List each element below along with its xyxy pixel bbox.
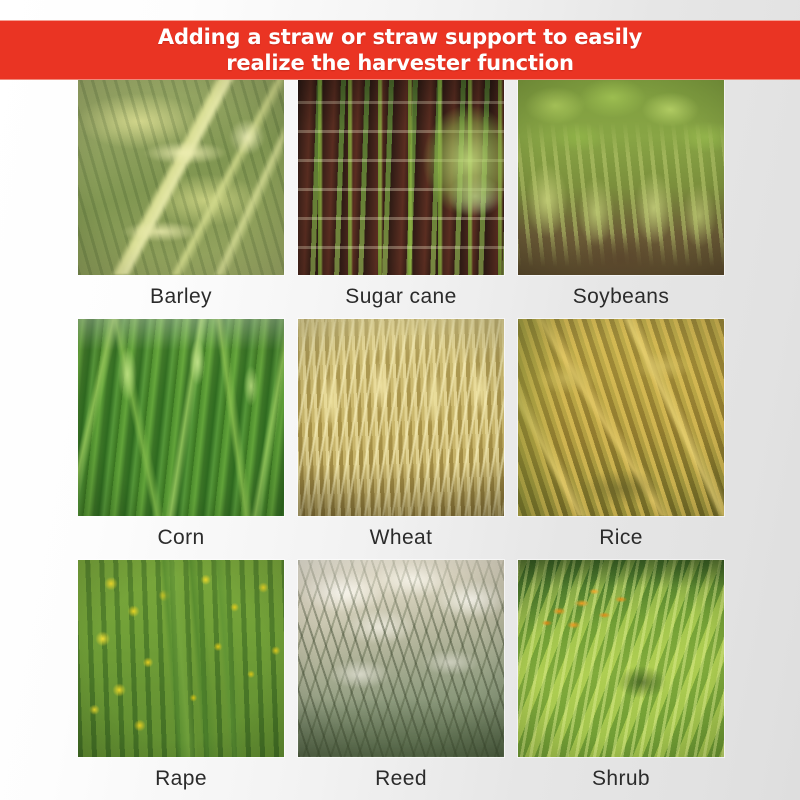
crop-cell-corn: Corn <box>78 319 284 560</box>
crop-label-soybeans: Soybeans <box>518 275 724 319</box>
grid-gutter <box>504 78 518 319</box>
crop-label-shrub: Shrub <box>518 757 724 800</box>
crop-cell-reed: Reed <box>298 560 504 800</box>
crop-label-corn: Corn <box>78 516 284 560</box>
soybeans-photo <box>518 78 724 275</box>
crop-cell-soybeans: Soybeans <box>518 78 724 319</box>
grid-gutter <box>504 560 518 800</box>
crop-cell-sugar-cane: Sugar cane <box>298 78 504 319</box>
crop-label-rice: Rice <box>518 516 724 560</box>
crop-cell-rice: Rice <box>518 319 724 560</box>
crop-cell-shrub: Shrub <box>518 560 724 800</box>
rice-photo <box>518 319 724 516</box>
product-infographic: Adding a straw or straw support to easil… <box>0 0 800 800</box>
crop-label-barley: Barley <box>78 275 284 319</box>
crop-grid: Barley Sugar cane Soybeans Corn <box>78 78 726 800</box>
sugar-cane-photo <box>298 78 504 275</box>
crop-cell-rape: Rape <box>78 560 284 800</box>
wheat-photo <box>298 319 504 516</box>
headline-line-2: realize the harvester function <box>226 50 573 76</box>
headline-line-1: Adding a straw or straw support to easil… <box>158 24 642 50</box>
grid-gutter <box>284 78 298 319</box>
crop-label-sugar-cane: Sugar cane <box>298 275 504 319</box>
crop-cell-wheat: Wheat <box>298 319 504 560</box>
crop-label-wheat: Wheat <box>298 516 504 560</box>
headline-banner: Adding a straw or straw support to easil… <box>0 20 800 80</box>
grid-gutter <box>504 319 518 560</box>
grid-gutter <box>284 560 298 800</box>
barley-photo <box>78 78 284 275</box>
reed-photo <box>298 560 504 757</box>
rape-photo <box>78 560 284 757</box>
corn-photo <box>78 319 284 516</box>
crop-cell-barley: Barley <box>78 78 284 319</box>
crop-label-rape: Rape <box>78 757 284 800</box>
crop-label-reed: Reed <box>298 757 504 800</box>
grid-gutter <box>284 319 298 560</box>
shrub-photo <box>518 560 724 757</box>
